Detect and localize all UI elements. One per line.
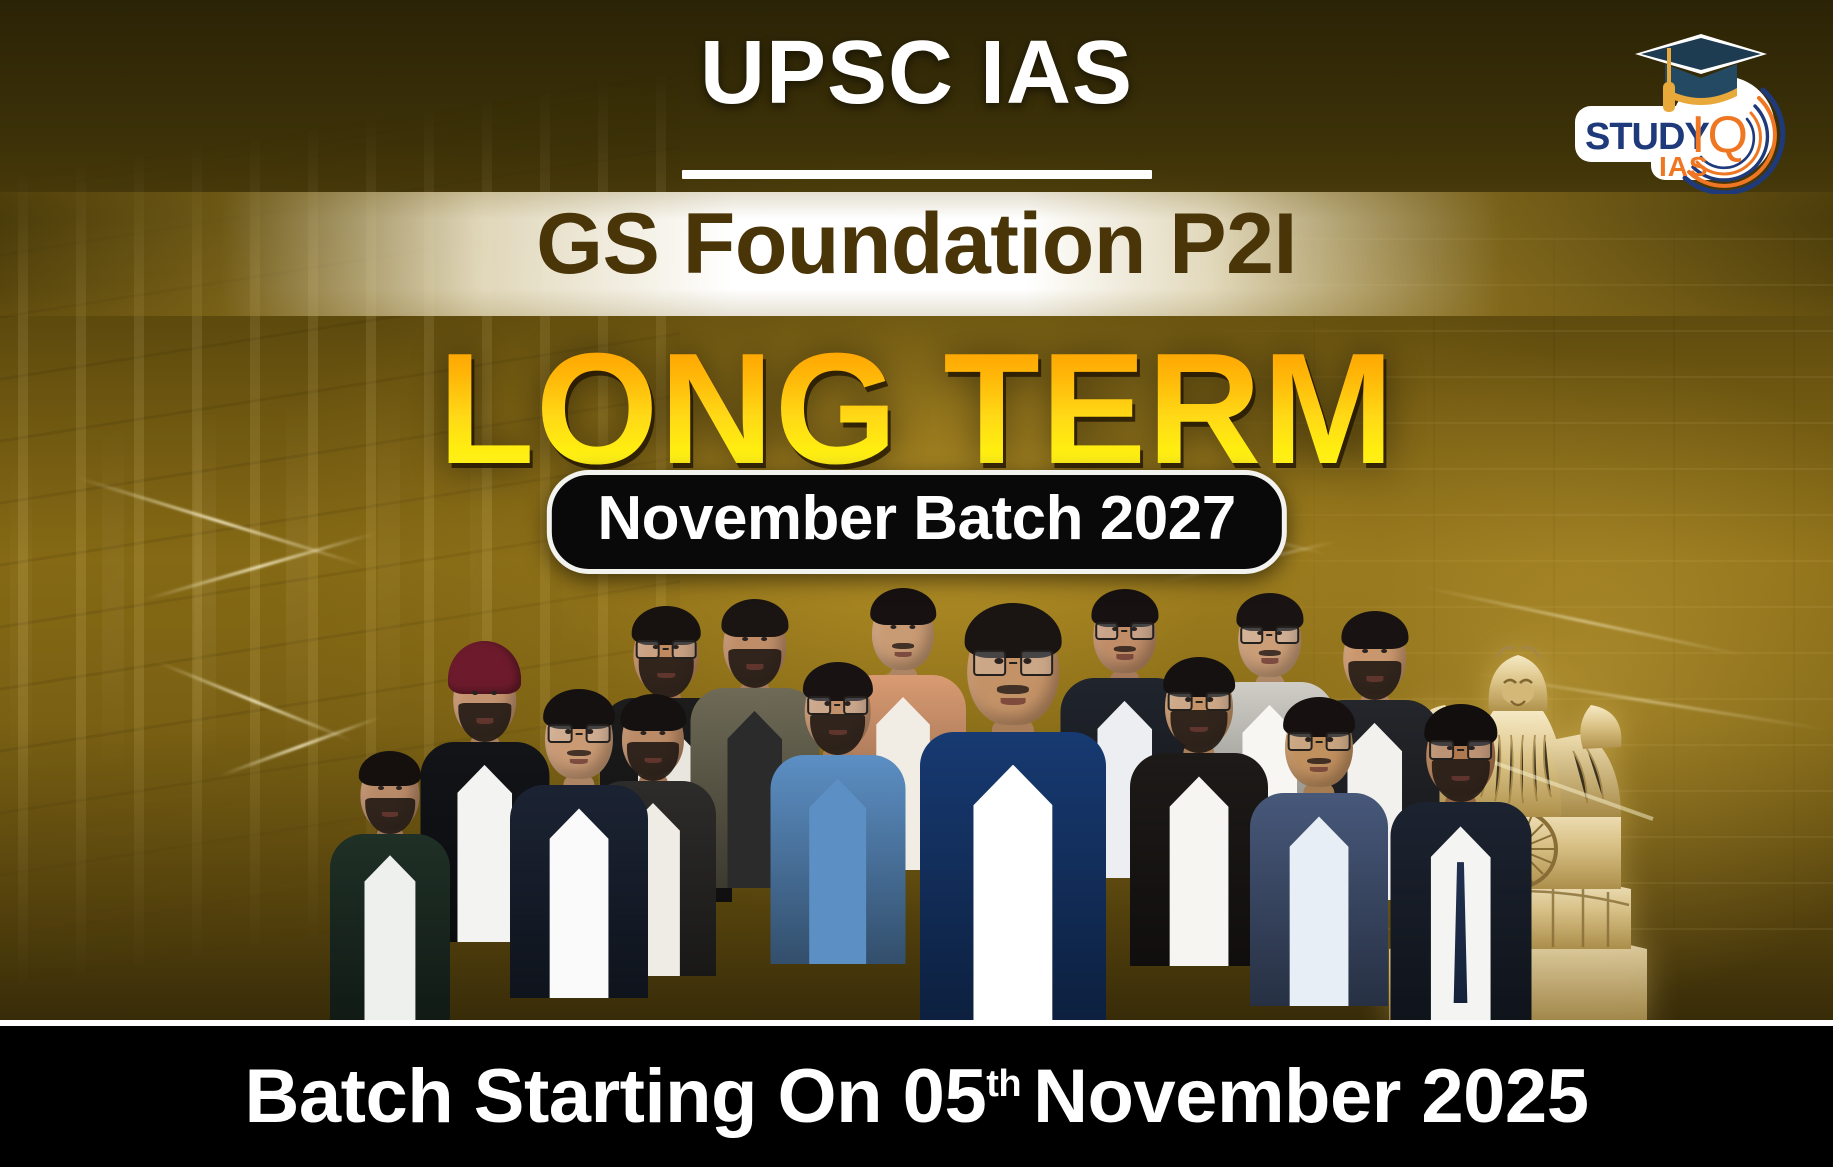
faculty-eyes bbox=[378, 786, 402, 790]
faculty-mouth bbox=[476, 718, 493, 723]
faculty-member bbox=[770, 667, 905, 964]
bottom-announcement-bar: Batch Starting On 05thNovember 2025 bbox=[0, 1026, 1833, 1167]
faculty-shirt bbox=[809, 779, 867, 964]
faculty-member bbox=[1390, 710, 1531, 1020]
title-underline bbox=[682, 170, 1152, 179]
faculty-eyes bbox=[653, 645, 679, 649]
start-date-text: Batch Starting On 05thNovember 2025 bbox=[245, 1053, 1589, 1140]
start-date-prefix: Batch Starting On 05 bbox=[245, 1053, 987, 1140]
faculty-moustache bbox=[1258, 650, 1280, 656]
faculty-mouth bbox=[1366, 676, 1383, 681]
svg-text:IAS: IAS bbox=[1659, 151, 1709, 182]
faculty-hair bbox=[359, 751, 421, 786]
faculty-eyes bbox=[565, 729, 593, 734]
faculty-eyes bbox=[1305, 737, 1333, 742]
faculty-eyes bbox=[1257, 631, 1283, 635]
faculty-shirt bbox=[973, 765, 1052, 1020]
faculty-moustache bbox=[1113, 646, 1135, 652]
faculty-member bbox=[510, 694, 648, 998]
faculty-mouth bbox=[746, 664, 763, 669]
faculty-mouth bbox=[382, 812, 398, 817]
exam-title: UPSC IAS bbox=[0, 28, 1833, 118]
faculty-eyes bbox=[472, 691, 498, 695]
faculty-eyes bbox=[1362, 649, 1388, 653]
faculty-hair bbox=[721, 599, 788, 637]
faculty-moustache bbox=[997, 685, 1029, 694]
start-date-suffix: November 2025 bbox=[1033, 1053, 1588, 1140]
faculty-moustache bbox=[892, 643, 914, 649]
faculty-eyes bbox=[890, 625, 915, 629]
faculty-shirt bbox=[364, 855, 415, 1020]
faculty-mouth bbox=[895, 652, 912, 657]
faculty-turban bbox=[448, 641, 522, 694]
batch-badge-label: November Batch 2027 bbox=[597, 483, 1235, 555]
faculty-mouth bbox=[1190, 727, 1208, 733]
faculty-member bbox=[1130, 662, 1268, 966]
course-title: GS Foundation P2I bbox=[0, 196, 1833, 292]
faculty-mouth bbox=[570, 759, 588, 765]
ordinal-suffix: th bbox=[986, 1063, 1021, 1106]
faculty-hair bbox=[1341, 611, 1408, 649]
faculty-eyes bbox=[824, 701, 851, 706]
faculty-eyes bbox=[1185, 697, 1213, 702]
studyiq-logo[interactable]: STUDY IQ IAS bbox=[1573, 18, 1805, 194]
faculty-mouth bbox=[1116, 654, 1133, 659]
faculty-shirt bbox=[457, 765, 512, 942]
highlight-headline: LONG TERM bbox=[0, 330, 1833, 488]
faculty-panel bbox=[300, 550, 1543, 1020]
faculty-shirt bbox=[550, 808, 609, 998]
faculty-eyes bbox=[742, 637, 768, 641]
batch-badge: November Batch 2027 bbox=[546, 470, 1286, 574]
faculty-member bbox=[1250, 702, 1388, 1006]
faculty-shirt bbox=[1170, 776, 1229, 966]
faculty-mouth bbox=[1310, 767, 1328, 773]
faculty-eyes bbox=[994, 658, 1031, 664]
faculty-shirt bbox=[1290, 816, 1349, 1006]
faculty-mouth bbox=[1001, 698, 1026, 705]
faculty-member bbox=[920, 611, 1106, 1020]
faculty-eyes bbox=[1112, 627, 1138, 631]
promo-banner: UPSC IAS GS Foundation P2I LONG TERM Nov… bbox=[0, 0, 1833, 1167]
faculty-member bbox=[330, 756, 450, 1020]
faculty-mouth bbox=[1451, 776, 1470, 782]
faculty-eyes bbox=[1446, 746, 1474, 751]
faculty-mouth bbox=[657, 673, 675, 678]
